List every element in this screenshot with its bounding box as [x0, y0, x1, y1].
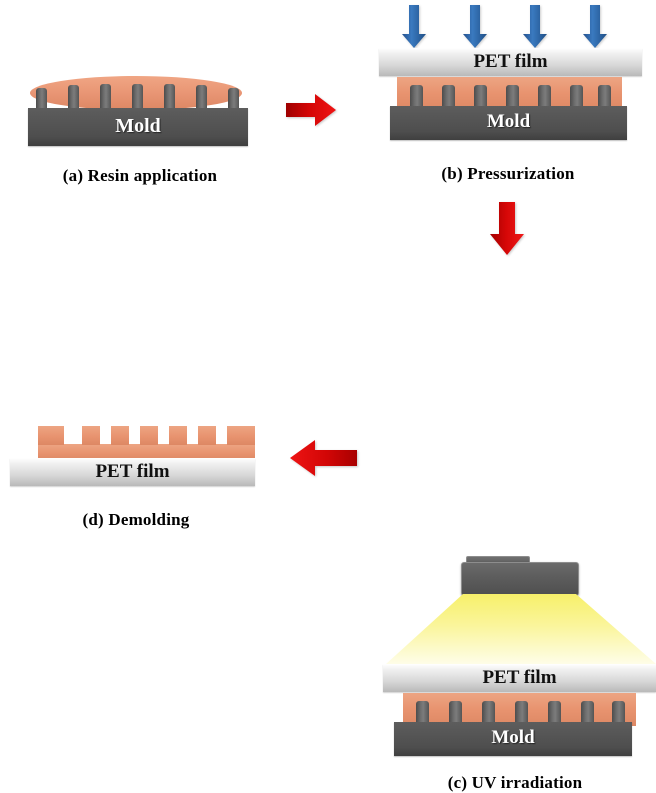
pet-film-label: PET film: [10, 461, 255, 483]
uv-lamp-body: [461, 562, 579, 596]
resin-tooth: [82, 426, 100, 445]
panel-a-resin-application: Mold (a) Resin application: [0, 0, 300, 200]
resin-tooth: [38, 426, 56, 445]
mold-label: Mold: [28, 115, 248, 138]
pressure-arrow-2: [461, 4, 489, 50]
uv-light-cone: [370, 594, 656, 666]
pet-film-label: PET film: [379, 51, 642, 73]
light-cone-icon: [370, 594, 656, 666]
mold-block: Mold: [390, 106, 627, 140]
pressure-arrow-3: [521, 4, 549, 50]
arrow-b-to-c: [487, 200, 527, 258]
resin-tooth: [227, 426, 255, 445]
arrow-down-icon: [487, 200, 527, 258]
pet-film-layer: PET film: [383, 664, 656, 692]
pet-film-label: PET film: [383, 667, 656, 689]
arrow-a-to-b: [284, 92, 338, 128]
resin-tooth: [111, 426, 129, 445]
figure-canvas: Mold (a) Resin application: [0, 0, 656, 540]
panel-d-demolding: PET film (d) Demolding: [0, 400, 300, 540]
mold-label: Mold: [390, 111, 627, 133]
resin-tooth: [56, 426, 64, 445]
resin-tooth: [169, 426, 187, 445]
panel-a-caption: (a) Resin application: [0, 166, 280, 186]
resin-grating: [38, 426, 255, 460]
panel-c-uv-irradiation: PET film Mold (c) UV irradiation: [370, 270, 656, 540]
pet-film-layer: PET film: [379, 48, 642, 76]
pressure-arrow-4: [581, 4, 609, 50]
panel-b-pressurization: PET film Mold (b) Pressurization: [360, 0, 656, 200]
pet-film-layer: PET film: [10, 458, 255, 486]
resin-tooth: [198, 426, 216, 445]
panel-c-caption: (c) UV irradiation: [390, 773, 640, 793]
panel-b-caption: (b) Pressurization: [370, 164, 646, 184]
arrow-right-icon: [284, 92, 338, 128]
mold-block: Mold: [28, 108, 248, 146]
arrow-down-icon: [521, 4, 549, 50]
mold-block: Mold: [394, 722, 632, 756]
arrow-down-icon: [581, 4, 609, 50]
panel-d-caption: (d) Demolding: [0, 510, 272, 530]
resin-tooth: [140, 426, 158, 445]
arrow-down-icon: [461, 4, 489, 50]
arrow-down-icon: [400, 4, 428, 50]
mold-label: Mold: [394, 727, 632, 749]
pressure-arrow-1: [400, 4, 428, 50]
